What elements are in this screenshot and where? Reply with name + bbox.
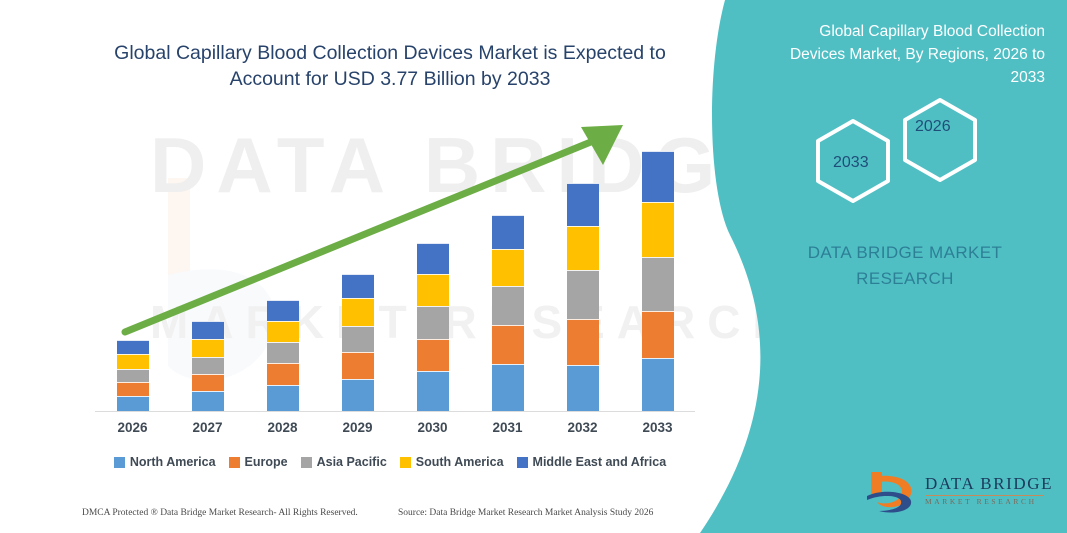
bar-slot — [320, 120, 395, 411]
bar-segment — [417, 339, 449, 371]
panel-title: Global Capillary Blood Collection Device… — [760, 20, 1045, 89]
bar-segment — [267, 385, 299, 411]
x-axis-label-2030: 2030 — [395, 420, 470, 435]
stacked-bar[interactable] — [192, 321, 224, 411]
legend-label: North America — [130, 455, 216, 469]
bar-slot — [245, 120, 320, 411]
logo-sub-text: MARKET RESEARCH — [925, 497, 1053, 506]
bar-segment — [117, 396, 149, 411]
x-axis-label-2033: 2033 — [620, 420, 695, 435]
bar-segment — [492, 215, 524, 249]
brand-panel: Global Capillary Blood Collection Device… — [700, 0, 1067, 533]
bar-segment — [642, 358, 674, 411]
bar-segment — [642, 202, 674, 257]
legend-label: Middle East and Africa — [533, 455, 667, 469]
hexagon-group: 2033 2026 — [795, 95, 1055, 215]
bar-segment — [642, 151, 674, 202]
x-axis-label-2028: 2028 — [245, 420, 320, 435]
bar-segment — [267, 321, 299, 342]
bar-segment — [342, 352, 374, 378]
footer-source: Source: Data Bridge Market Research Mark… — [398, 508, 653, 518]
stacked-bar[interactable] — [342, 274, 374, 411]
bar-segment — [642, 311, 674, 358]
bar-segment — [192, 391, 224, 411]
bar-segment — [342, 379, 374, 411]
bar-segment — [417, 306, 449, 339]
page-title: Global Capillary Blood Collection Device… — [110, 40, 670, 92]
bar-segment — [567, 365, 599, 411]
bar-slot — [395, 120, 470, 411]
stacked-bar[interactable] — [267, 300, 299, 411]
logo-mark-icon — [865, 470, 921, 516]
infographic-canvas: DATA BRIDGE MARKET RESEARCH Global Capil… — [0, 0, 1067, 533]
stacked-bar[interactable] — [492, 215, 524, 412]
stacked-bar[interactable] — [117, 340, 149, 411]
bar-segment — [117, 354, 149, 368]
chart-pane: DATA BRIDGE MARKET RESEARCH Global Capil… — [0, 0, 760, 533]
legend-swatch — [301, 457, 312, 468]
x-axis-labels: 20262027202820292030203120322033 — [95, 420, 695, 435]
bar-slot — [95, 120, 170, 411]
bar-segment — [192, 357, 224, 374]
bar-segment — [267, 342, 299, 363]
bar-segment — [117, 382, 149, 396]
x-axis-line — [95, 411, 695, 412]
stacked-bar[interactable] — [642, 151, 674, 411]
bar-segment — [417, 243, 449, 273]
stacked-bar[interactable] — [567, 183, 599, 411]
bar-segment — [492, 364, 524, 411]
bar-segment — [117, 340, 149, 354]
bar-segment — [492, 286, 524, 325]
stacked-bar[interactable] — [417, 243, 449, 411]
footer-copyright: DMCA Protected ® Data Bridge Market Rese… — [82, 508, 358, 518]
bar-segment — [417, 274, 449, 306]
legend-item[interactable]: Asia Pacific — [301, 455, 387, 469]
bar-segment — [192, 321, 224, 338]
company-logo: DATA BRIDGE MARKET RESEARCH — [865, 470, 1055, 518]
bar-slot — [170, 120, 245, 411]
legend-label: Europe — [245, 455, 288, 469]
x-axis-label-2026: 2026 — [95, 420, 170, 435]
x-axis-label-2027: 2027 — [170, 420, 245, 435]
hexagon-label-2033: 2033 — [833, 154, 869, 172]
bar-slot — [470, 120, 545, 411]
bar-segment — [342, 298, 374, 326]
legend-label: South America — [416, 455, 504, 469]
footer: DMCA Protected ® Data Bridge Market Rese… — [0, 508, 760, 530]
legend-item[interactable]: North America — [114, 455, 216, 469]
legend-label: Asia Pacific — [317, 455, 387, 469]
legend-swatch — [114, 457, 125, 468]
legend-item[interactable]: Europe — [229, 455, 288, 469]
chart-legend: North AmericaEuropeAsia PacificSouth Ame… — [95, 455, 685, 469]
brand-name: DATA BRIDGE MARKET RESEARCH — [760, 240, 1050, 292]
bar-group — [95, 120, 695, 411]
bar-slot — [620, 120, 695, 411]
logo-main-text: DATA BRIDGE — [925, 474, 1053, 494]
legend-item[interactable]: Middle East and Africa — [517, 455, 667, 469]
bar-segment — [117, 369, 149, 382]
bar-slot — [545, 120, 620, 411]
bar-segment — [567, 319, 599, 365]
bar-segment — [492, 249, 524, 286]
bar-segment — [417, 371, 449, 411]
bar-segment — [267, 363, 299, 385]
x-axis-label-2032: 2032 — [545, 420, 620, 435]
bar-segment — [192, 374, 224, 391]
x-axis-label-2031: 2031 — [470, 420, 545, 435]
hexagon-label-2026: 2026 — [915, 118, 951, 136]
bar-segment — [342, 274, 374, 297]
bar-segment — [567, 226, 599, 270]
bar-segment — [267, 300, 299, 321]
logo-wordmark: DATA BRIDGE MARKET RESEARCH — [925, 474, 1053, 506]
bar-segment — [342, 326, 374, 353]
legend-item[interactable]: South America — [400, 455, 504, 469]
logo-divider — [926, 495, 1044, 496]
bar-segment — [492, 325, 524, 364]
bar-segment — [642, 257, 674, 311]
legend-swatch — [517, 457, 528, 468]
bar-segment — [567, 183, 599, 225]
bar-segment — [192, 339, 224, 357]
legend-swatch — [400, 457, 411, 468]
legend-swatch — [229, 457, 240, 468]
stacked-bar-chart — [95, 120, 695, 412]
bar-segment — [567, 270, 599, 319]
x-axis-label-2029: 2029 — [320, 420, 395, 435]
